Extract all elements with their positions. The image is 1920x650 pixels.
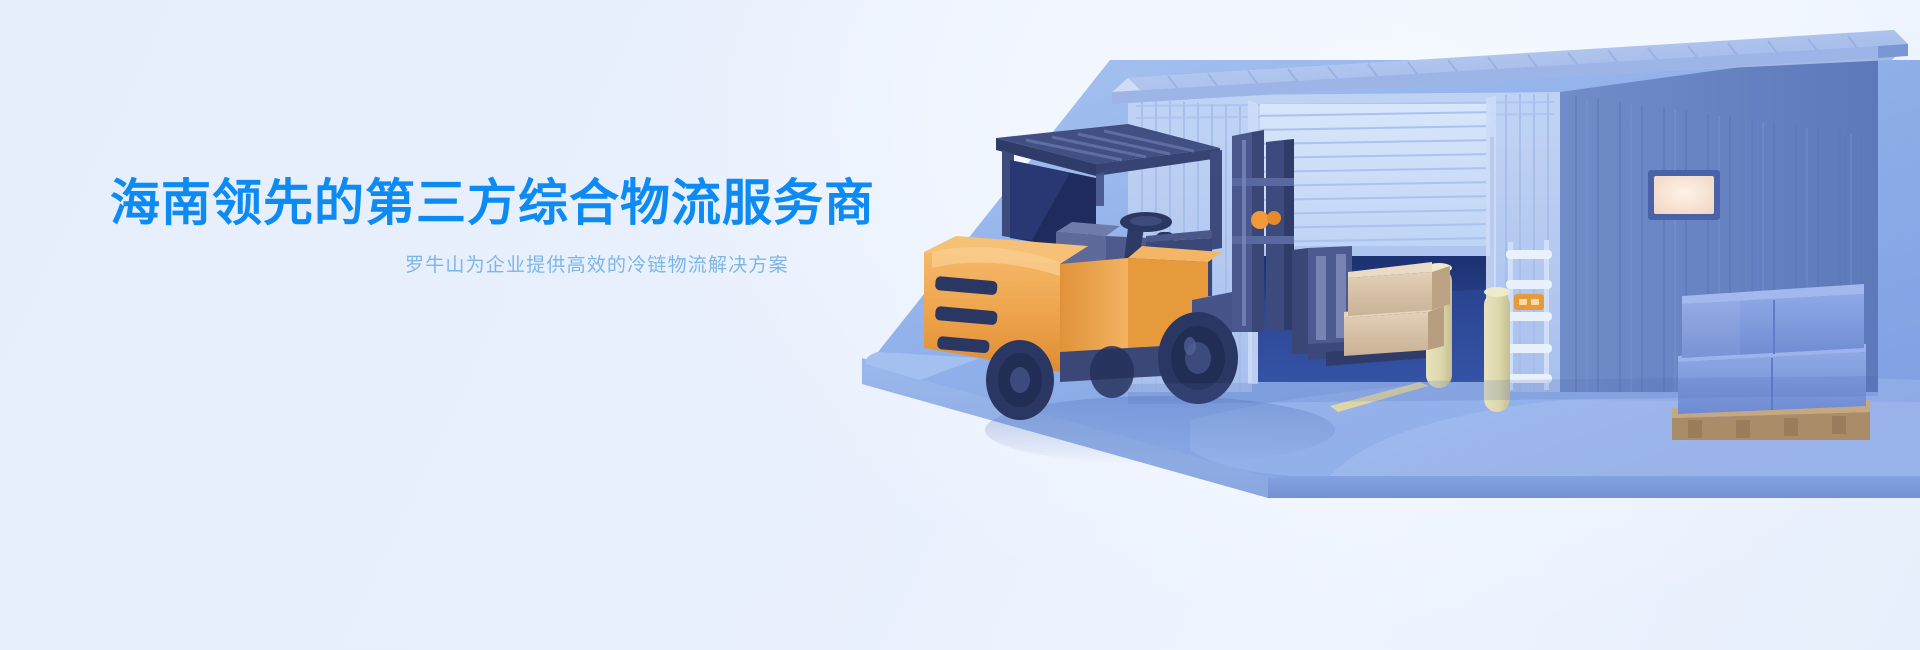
hero-banner: GMA — [0, 0, 1920, 650]
page-subtitle: 罗牛山为企业提供高效的冷链物流解决方案 — [405, 252, 1010, 281]
page-title: 海南领先的第三方综合物流服务商 — [110, 176, 1010, 230]
background-gradient — [0, 0, 1920, 650]
hero-copy: 海南领先的第三方综合物流服务商 罗牛山为企业提供高效的冷链物流解决方案 — [110, 176, 1010, 281]
